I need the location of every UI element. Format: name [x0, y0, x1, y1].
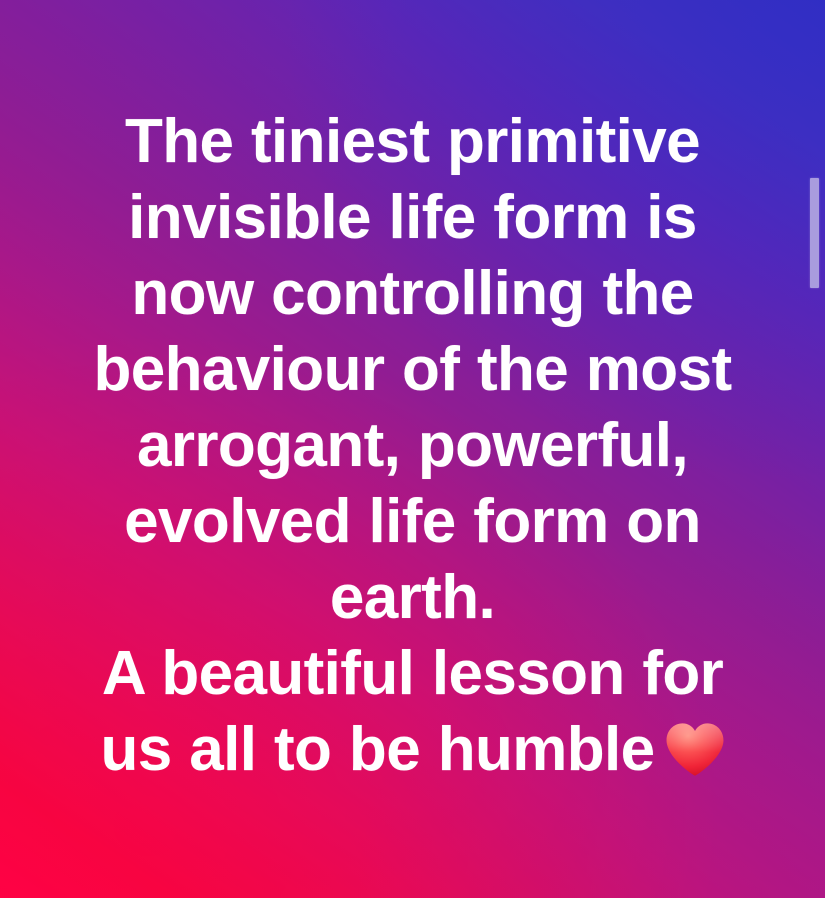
scrollbar-thumb[interactable] [810, 178, 819, 288]
red-heart-icon [665, 722, 725, 778]
quote-line-9-text: us all to be humble [100, 715, 654, 784]
quote-line-3: now controlling the [46, 256, 779, 332]
quote-line-6: evolved life form on [46, 484, 779, 560]
quote-line-9-with-emoji: us all to be humble [46, 712, 779, 788]
quote-line-4: behaviour of the most [46, 332, 779, 408]
quote-card-canvas: The tiniest primitive invisible life for… [0, 0, 825, 898]
quote-line-1: The tiniest primitive [46, 104, 779, 180]
scrollbar-track[interactable] [810, 0, 819, 898]
quote-line-5: arrogant, powerful, [46, 408, 779, 484]
quote-text-block: The tiniest primitive invisible life for… [0, 104, 825, 788]
quote-line-8: A beautiful lesson for [46, 636, 779, 712]
quote-line-2: invisible life form is [46, 180, 779, 256]
quote-line-7: earth. [46, 560, 779, 636]
